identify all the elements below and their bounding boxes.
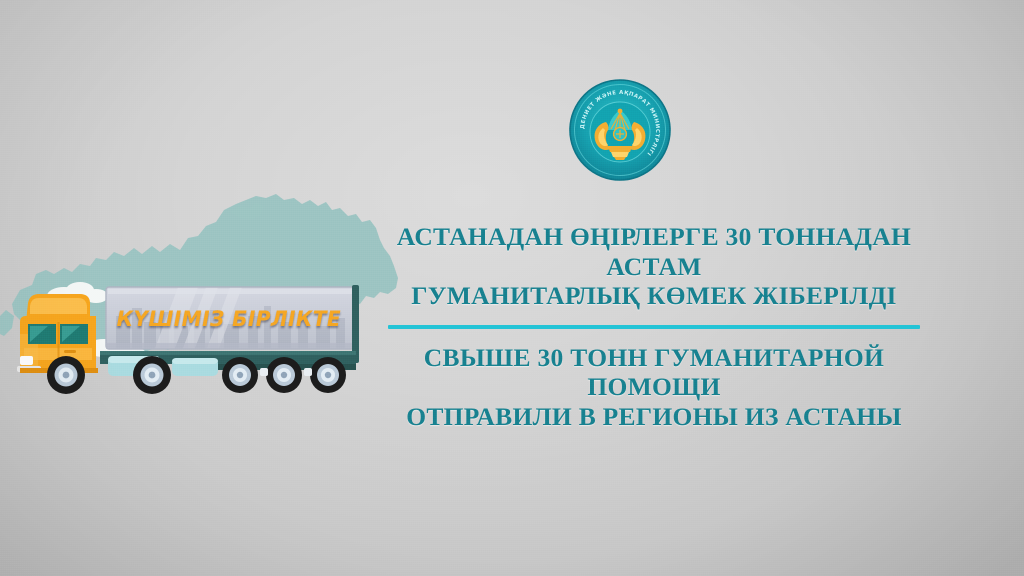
headline-russian: СВЫШЕ 30 ТОНН ГУМАНИТАРНОЙ ПОМОЩИ ОТПРАВ… [364, 343, 944, 432]
headline-kazakh-line-1: АСТАНАДАН ӨҢІРЛЕРГЕ 30 ТОННАДАН АСТАМ [368, 222, 940, 281]
headline-block: АСТАНАДАН ӨҢІРЛЕРГЕ 30 ТОННАДАН АСТАМ ГУ… [364, 222, 944, 431]
headline-divider [388, 325, 920, 329]
humanitarian-aid-truck-illustration [4, 272, 376, 408]
headline-russian-line-1: СВЫШЕ 30 ТОНН ГУМАНИТАРНОЙ ПОМОЩИ [368, 343, 940, 402]
headline-russian-line-2: ОТПРАВИЛИ В РЕГИОНЫ ИЗ АСТАНЫ [368, 402, 940, 432]
headline-kazakh-line-2: ГУМАНИТАРЛЫҚ КӨМЕК ЖІБЕРІЛДІ [368, 281, 940, 311]
poster-canvas: ҚР МӘДЕНИЕТ ЖӘНЕ АҚПАРАТ МИНИСТРЛІГІ [0, 0, 1024, 576]
truck-slogan-text: КҮШІМІЗ БІРЛІКТЕ [117, 307, 340, 331]
ministry-emblem: ҚР МӘДЕНИЕТ ЖӘНЕ АҚПАРАТ МИНИСТРЛІГІ [568, 78, 672, 182]
headline-kazakh: АСТАНАДАН ӨҢІРЛЕРГЕ 30 ТОННАДАН АСТАМ ГУ… [364, 222, 944, 311]
